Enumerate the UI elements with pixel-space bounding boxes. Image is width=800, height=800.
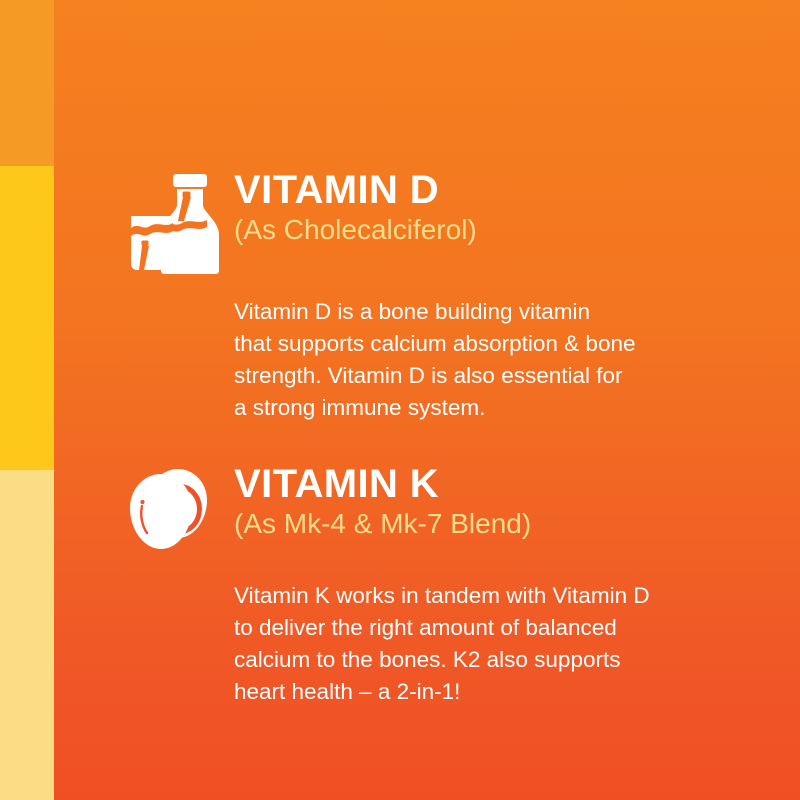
avocado-icon: [128, 462, 220, 558]
vitamin-k-description-line: Vitamin K works in tandem with Vitamin D: [234, 580, 650, 612]
vitamin-k-description-line: to deliver the right amount of balanced: [234, 612, 650, 644]
vitamin-k-section: VITAMIN K (As Mk-4 & Mk-7 Blend) Vitamin…: [128, 462, 650, 708]
left-stripe-segment-top: [0, 0, 54, 166]
left-stripe-segment-middle: [0, 166, 54, 470]
vitamin-d-title: VITAMIN D: [234, 170, 477, 211]
vitamin-d-subtitle: (As Cholecalciferol): [234, 215, 477, 246]
vitamin-k-subtitle: (As Mk-4 & Mk-7 Blend): [234, 509, 531, 540]
vitamin-d-section: VITAMIN D (As Cholecalciferol) Vitamin D…: [128, 168, 635, 424]
vitamin-k-heading-row: VITAMIN K (As Mk-4 & Mk-7 Blend): [128, 462, 650, 558]
vitamin-d-description-line: a strong immune system.: [234, 392, 635, 424]
vitamin-k-title: VITAMIN K: [234, 464, 531, 505]
left-stripe-segment-bottom: [0, 470, 54, 800]
vitamin-d-description-line: strength. Vitamin D is also essential fo…: [234, 360, 635, 392]
vitamin-d-description-line: Vitamin D is a bone building vitamin: [234, 296, 635, 328]
vitamin-k-description-line: calcium to the bones. K2 also supports: [234, 644, 650, 676]
vitamin-k-titles: VITAMIN K (As Mk-4 & Mk-7 Blend): [220, 462, 531, 540]
vitamin-d-description: Vitamin D is a bone building vitamin tha…: [234, 296, 635, 424]
vitamin-k-description-line: heart health – a 2-in-1!: [234, 676, 650, 708]
vitamin-d-titles: VITAMIN D (As Cholecalciferol): [220, 168, 477, 246]
milk-bottle-and-glass-icon: [128, 168, 220, 274]
vitamin-k-description: Vitamin K works in tandem with Vitamin D…: [234, 580, 650, 708]
vitamin-info-poster: VITAMIN D (As Cholecalciferol) Vitamin D…: [0, 0, 800, 800]
vitamin-d-description-line: that supports calcium absorption & bone: [234, 328, 635, 360]
vitamin-d-heading-row: VITAMIN D (As Cholecalciferol): [128, 168, 635, 274]
